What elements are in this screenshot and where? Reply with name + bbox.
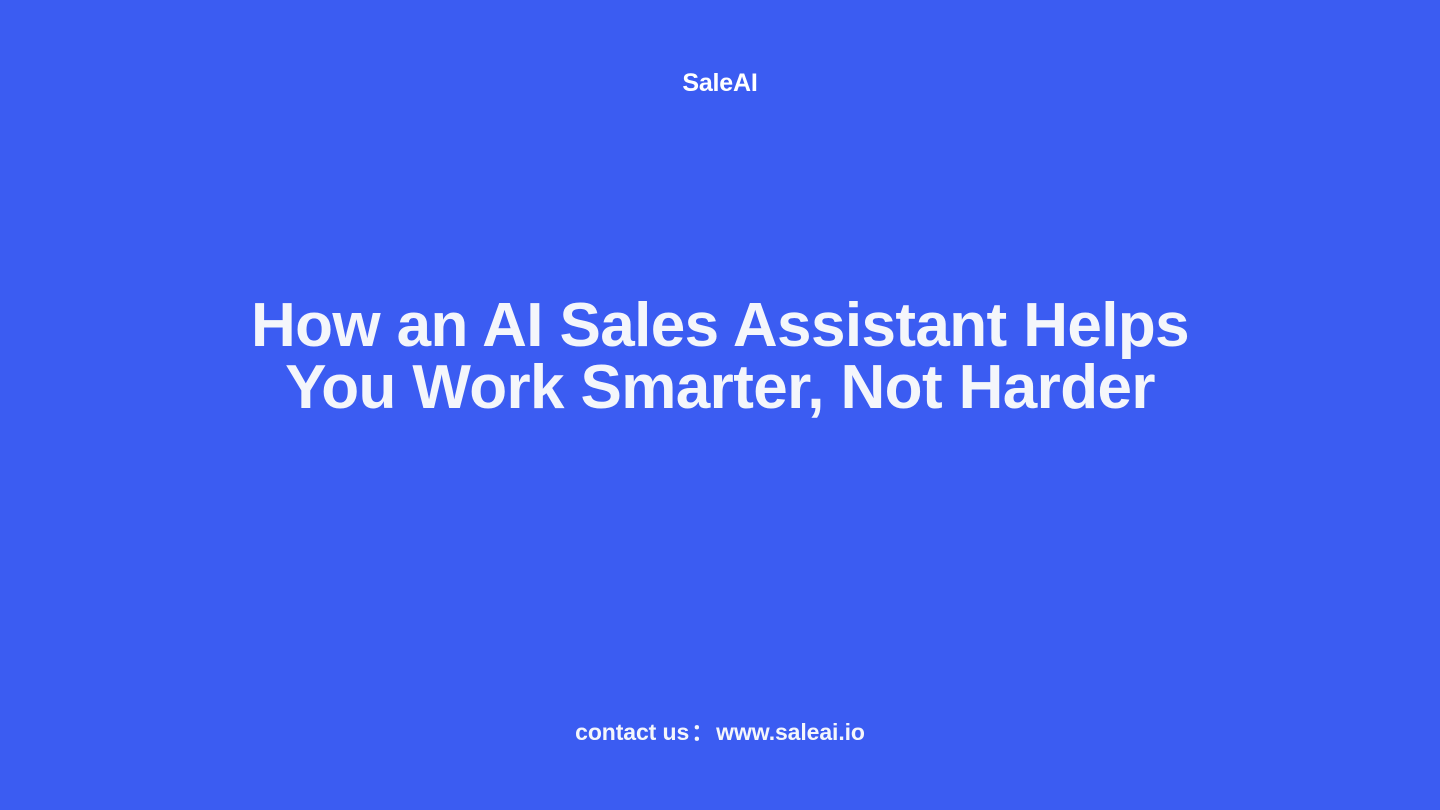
contact-label: contact us [575,721,689,744]
contact-url[interactable]: www.saleai.io [716,721,865,744]
contact-info: contact us：www.saleai.io [575,721,865,744]
headline-line-2: You Work Smarter, Not Harder [285,357,1155,419]
footer: contact us：www.saleai.io [0,712,1440,752]
contact-separator: ： [689,721,716,744]
headline-line-1: How an AI Sales Assistant Helps [251,295,1189,357]
brand-logo: SaleAI [682,71,757,96]
brand-header: SaleAI [0,0,1440,166]
headline: How an AI Sales Assistant Helps You Work… [0,295,1440,419]
title-slide: SaleAI How an AI Sales Assistant Helps Y… [0,0,1440,810]
